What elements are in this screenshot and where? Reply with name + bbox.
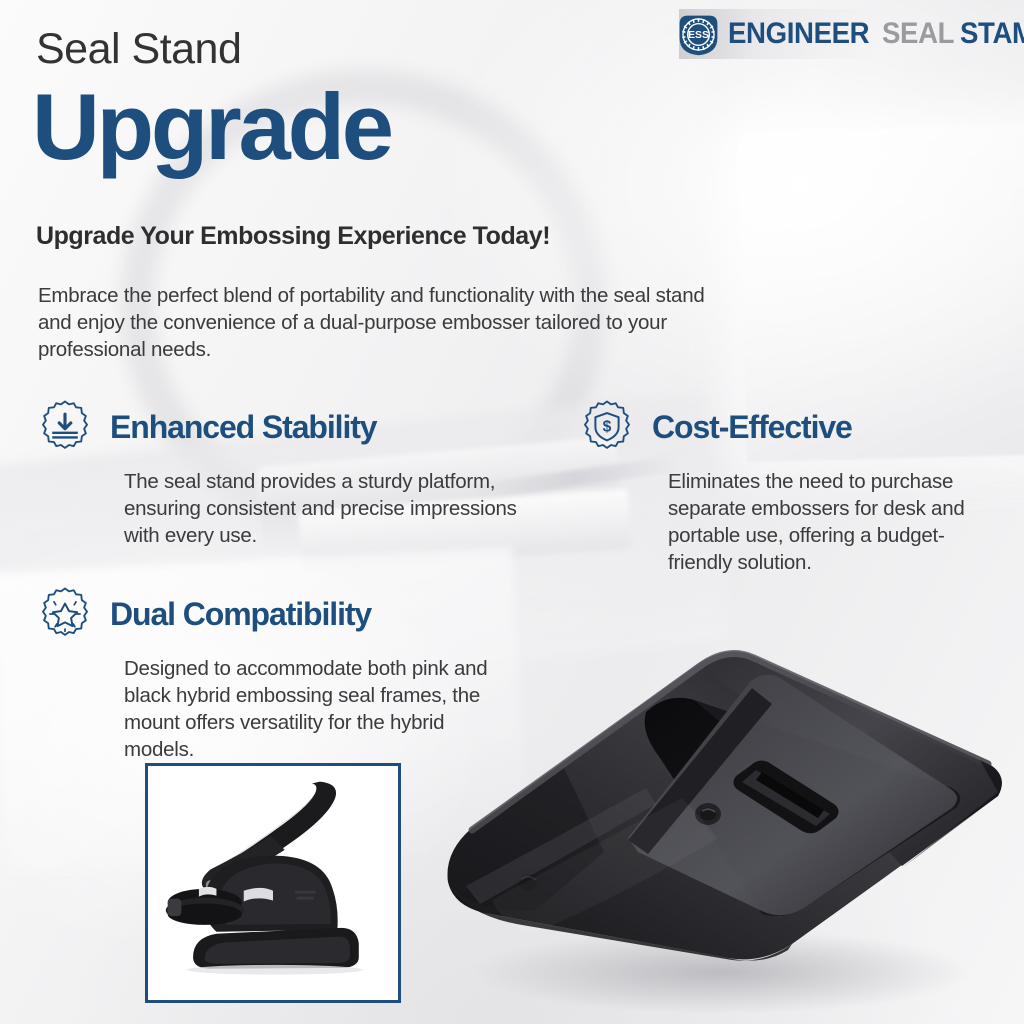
shield-dollar-badge-icon: $: [578, 398, 636, 456]
ess-gear-emblem-icon: ESS: [676, 12, 721, 57]
feature-header: Enhanced Stability: [36, 398, 556, 456]
logo-wordmark: ENGINEER SEAL STAMPS: [728, 19, 1024, 49]
feature-title: Dual Compatibility: [110, 598, 371, 630]
feature-header: Dual Compatibility: [36, 585, 496, 643]
logo-word-stamps: STAMPS: [960, 19, 1024, 49]
svg-text:$: $: [603, 419, 612, 436]
infographic-page: ESS ENGINEER SEAL STAMPS .COM Seal Stand…: [0, 0, 1024, 1024]
feature-dual-compatibility: Dual Compatibility Designed to accommoda…: [36, 585, 496, 763]
kicker-text: Seal Stand: [36, 28, 241, 71]
logo-word-engineer: ENGINEER: [728, 19, 869, 49]
subheading: Upgrade Your Embossing Experience Today!: [36, 222, 550, 251]
logo-word-seal: SEAL: [882, 19, 954, 49]
feature-title: Cost-Effective: [652, 411, 852, 443]
feature-title: Enhanced Stability: [110, 411, 376, 443]
download-to-platform-badge-icon: [36, 398, 94, 456]
brand-logo[interactable]: ESS ENGINEER SEAL STAMPS .COM: [676, 8, 1016, 60]
feature-header: $ Cost-Effective: [578, 398, 998, 456]
seal-stand-product-photo: [432, 552, 1024, 1022]
svg-text:ESS: ESS: [688, 30, 709, 41]
intro-paragraph: Embrace the perfect blend of portability…: [38, 282, 708, 363]
page-title: Upgrade: [32, 80, 391, 174]
feature-enhanced-stability: Enhanced Stability The seal stand provid…: [36, 398, 556, 549]
feature-body: The seal stand provides a sturdy platfor…: [124, 468, 556, 549]
sparkle-star-badge-icon: [36, 585, 94, 643]
feature-cost-effective: $ Cost-Effective Eliminates the need to …: [578, 398, 998, 576]
handheld-embosser-photo: [145, 763, 401, 1003]
